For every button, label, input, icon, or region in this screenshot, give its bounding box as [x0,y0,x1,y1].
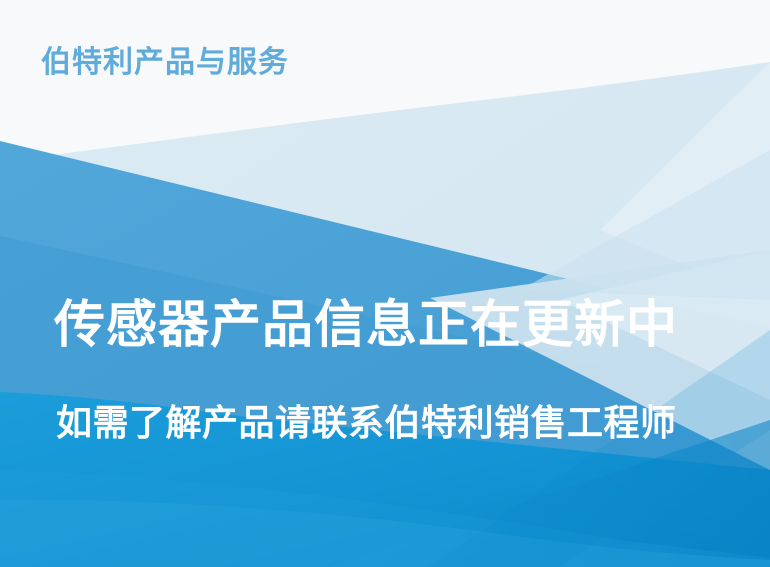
decorative-background [0,0,770,567]
product-service-banner: 伯特利产品与服务 传感器产品信息正在更新中 如需了解产品请联系伯特利销售工程师 [0,0,770,567]
